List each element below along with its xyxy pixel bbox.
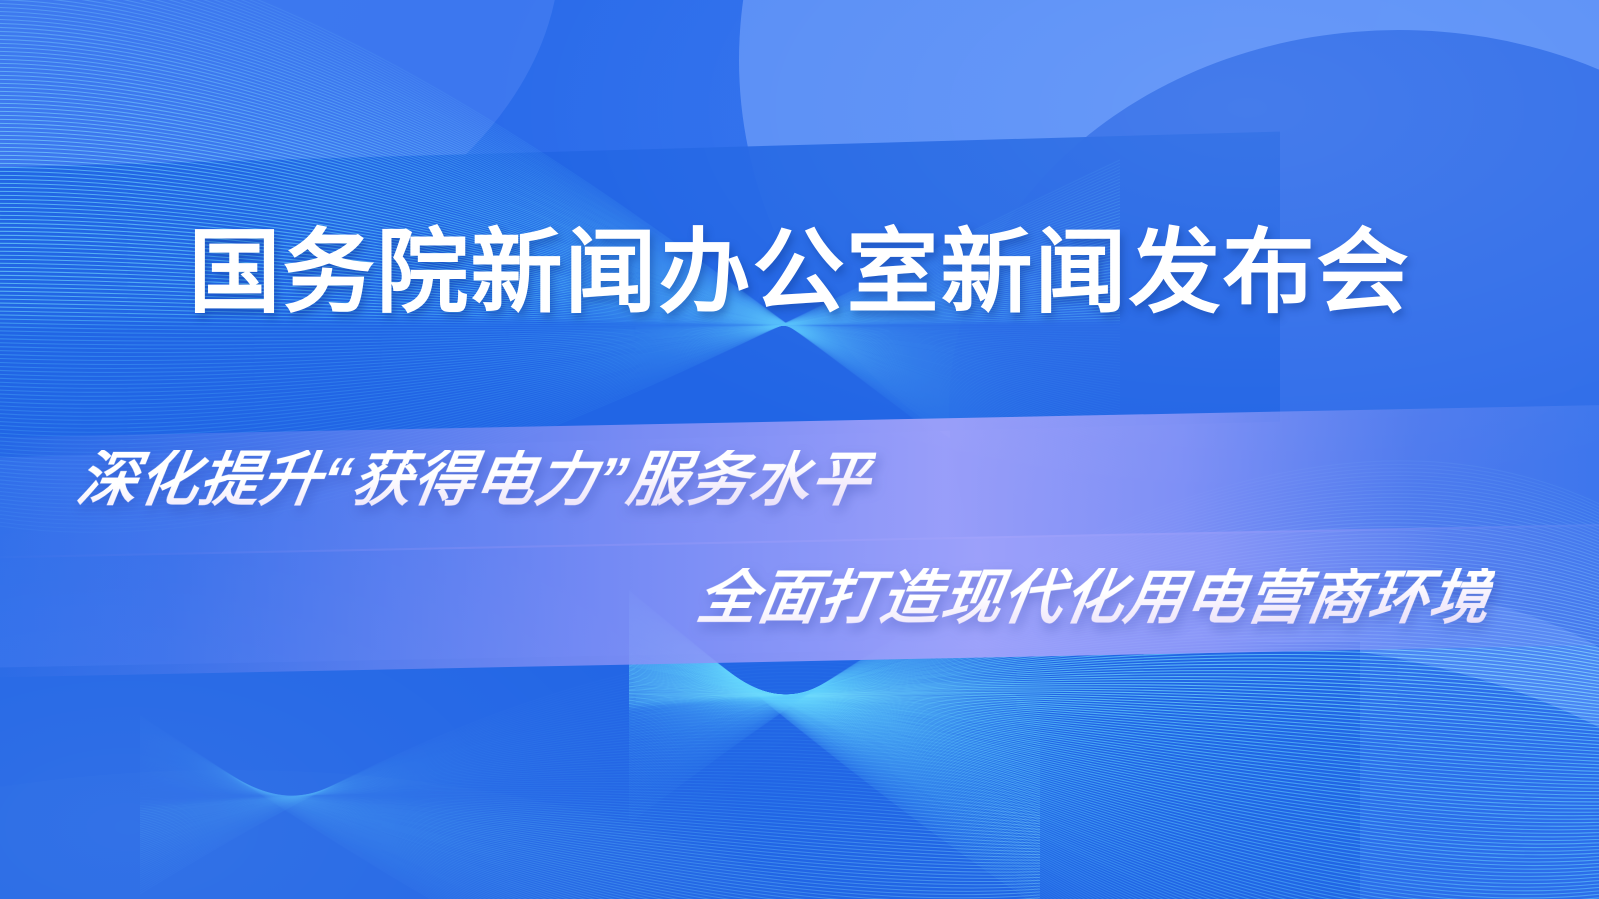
subtitle-line-2: 全面打造现代化用电营商环境	[693, 568, 1496, 628]
page-title: 国务院新闻办公室新闻发布会	[0, 222, 1599, 325]
lower-backing-plate	[0, 641, 1360, 899]
subtitle-line-1: 深化提升“获得电力”服务水平	[73, 450, 877, 510]
press-conference-poster: 国务院新闻办公室新闻发布会 深化提升“获得电力”服务水平 全面打造现代化用电营商…	[0, 0, 1599, 899]
